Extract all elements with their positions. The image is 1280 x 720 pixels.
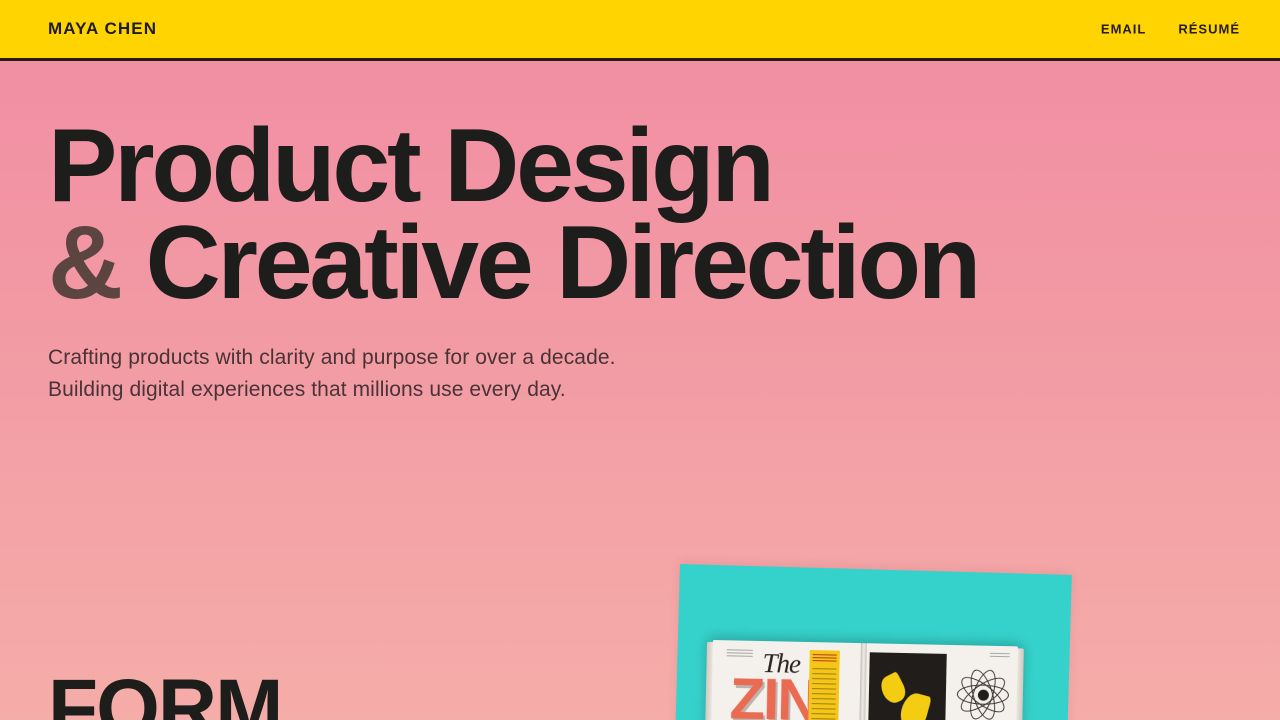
brand-logo[interactable]: MAYA CHEN xyxy=(48,19,157,39)
magazine-black-panel xyxy=(868,652,947,720)
magazine-title-zine: ZIN xyxy=(729,670,818,720)
hero-title-line-2: & Creative Direction xyxy=(48,215,978,312)
magazine-kicker-text xyxy=(727,649,753,657)
magazine-column-headline xyxy=(813,654,837,664)
magazine-page-left: The ZIN xyxy=(710,640,863,720)
portfolio-landing-page: MAYA CHEN EMAIL RÉSUMÉ Product Design & … xyxy=(0,0,1280,720)
nav-link-resume[interactable]: RÉSUMÉ xyxy=(1178,22,1240,37)
magazine-yellow-column xyxy=(808,650,840,720)
magazine-page-right xyxy=(861,643,1017,720)
primary-nav: EMAIL RÉSUMÉ xyxy=(1101,22,1240,37)
hero-subtitle-line-1: Crafting products with clarity and purpo… xyxy=(48,346,616,369)
hero-section: Product Design & Creative Direction Craf… xyxy=(48,118,978,406)
magazine-folio-number xyxy=(990,653,1010,659)
atom-diagram-icon xyxy=(955,667,1010,720)
hero-subtitle-line-2: Building digital experiences that millio… xyxy=(48,378,566,401)
hero-photo-collage: The ZIN xyxy=(660,540,1120,720)
hero-title-line-1: Product Design xyxy=(48,118,978,215)
hero-subtitle: Crafting products with clarity and purpo… xyxy=(48,342,978,406)
section-heading-form: FORM xyxy=(48,668,281,720)
atom-nucleus xyxy=(977,689,988,700)
hero-title-line-2-text: Creative Direction xyxy=(146,205,979,321)
open-magazine: The ZIN xyxy=(710,640,1017,720)
magazine-column-body xyxy=(811,668,837,720)
hero-ampersand: & xyxy=(48,205,120,321)
site-header: MAYA CHEN EMAIL RÉSUMÉ xyxy=(0,0,1280,61)
nav-link-email[interactable]: EMAIL xyxy=(1101,22,1146,37)
page-title: Product Design & Creative Direction xyxy=(48,118,978,312)
